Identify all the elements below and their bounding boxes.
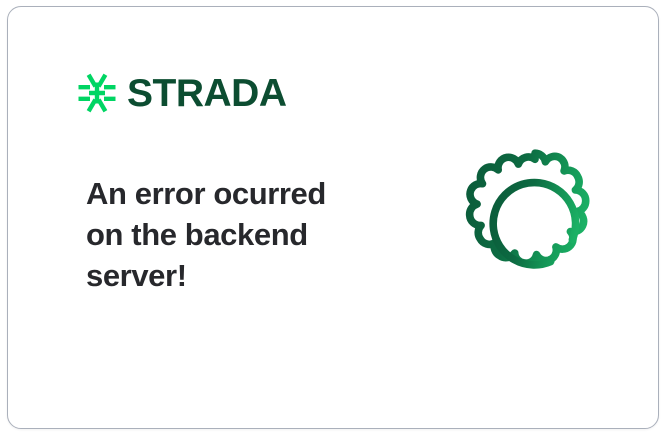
error-message-line-1: An error ocurred bbox=[86, 173, 386, 214]
gear-illustration bbox=[454, 143, 616, 307]
strada-asterisk-icon bbox=[77, 73, 117, 113]
gear-cog-icon bbox=[454, 143, 616, 307]
brand-wordmark: STRADA bbox=[127, 74, 287, 113]
error-screen: STRADA An error ocurred on the backend s… bbox=[0, 0, 666, 436]
error-message-line-3: server! bbox=[86, 255, 386, 296]
error-message-line-2: on the backend bbox=[86, 214, 386, 255]
brand-lockup: STRADA bbox=[77, 68, 287, 118]
error-message: An error ocurred on the backend server! bbox=[86, 173, 386, 296]
error-card: STRADA An error ocurred on the backend s… bbox=[7, 6, 659, 429]
